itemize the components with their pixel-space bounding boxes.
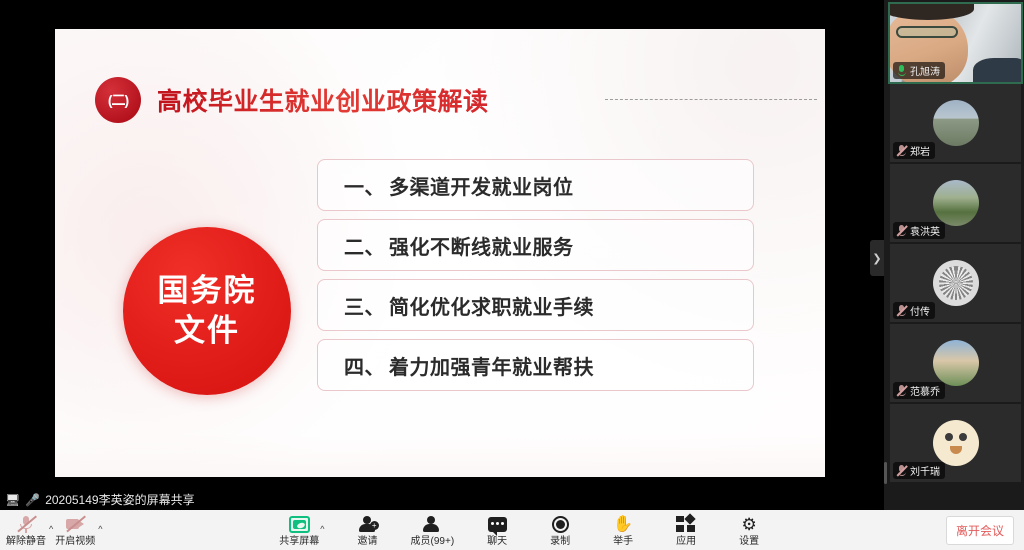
mic-muted-icon xyxy=(896,305,907,316)
members-button[interactable]: 成员(99+) xyxy=(411,513,455,547)
apps-icon xyxy=(676,515,696,534)
avatar xyxy=(933,340,979,386)
mic-muted-icon xyxy=(16,515,36,534)
avatar xyxy=(933,260,979,306)
record-icon xyxy=(552,515,569,534)
toolbar-center-group: 共享屏幕 ^ + 邀请 成员(99+) 聊天 xyxy=(102,513,946,547)
participant-nametag: 孔旭涛 xyxy=(893,62,945,79)
section-number-badge: (二) xyxy=(95,77,141,123)
participant-strip-scrollbar[interactable] xyxy=(884,462,887,484)
participant-nametag: 付传 xyxy=(893,302,935,319)
bullet-text: 着力加强青年就业帮扶 xyxy=(389,351,594,380)
raise-hand-button[interactable]: ✋ 举手 xyxy=(603,513,643,547)
participant-tile[interactable]: 付传 xyxy=(890,244,1021,322)
bullet-item: 二、 强化不断线就业服务 xyxy=(317,219,754,271)
toolbar-left-group: 解除静音 ^ 开启视频 ^ xyxy=(0,513,102,547)
settings-label: 设置 xyxy=(739,536,759,547)
bullet-item: 三、 简化优化求职就业手续 xyxy=(317,279,754,331)
share-options-caret-icon[interactable]: ^ xyxy=(319,524,324,547)
participant-nametag: 刘千瑞 xyxy=(893,462,945,479)
settings-button[interactable]: ⚙ 设置 xyxy=(729,513,769,547)
circle-line-2: 文件 xyxy=(174,311,240,351)
record-label: 录制 xyxy=(550,536,570,547)
camera-muted-icon xyxy=(65,515,85,534)
apps-label: 应用 xyxy=(676,536,696,547)
invite-button[interactable]: + 邀请 xyxy=(348,513,388,547)
avatar xyxy=(933,180,979,226)
start-video-label: 开启视频 xyxy=(55,536,95,547)
participant-tile[interactable]: 袁洪英 xyxy=(890,164,1021,242)
bullet-item: 四、 着力加强青年就业帮扶 xyxy=(317,339,754,391)
mic-muted-icon xyxy=(896,385,907,396)
participant-tile[interactable]: 郑岩 xyxy=(890,84,1021,162)
presentation-slide: (二) 高校毕业生就业创业政策解读 国务院 文件 一、 多渠道开发就业岗位 二、… xyxy=(55,29,825,477)
apps-button[interactable]: 应用 xyxy=(666,513,706,547)
mic-muted-icon: 🎤 xyxy=(25,494,40,506)
share-screen-icon xyxy=(289,515,310,534)
members-label: 成员(99+) xyxy=(411,536,455,547)
share-notice-bar: 🖥 🎤 20205149李英姿的屏幕共享 xyxy=(0,489,884,510)
members-icon xyxy=(422,515,442,534)
slide-heading: (二) 高校毕业生就业创业政策解读 xyxy=(95,77,489,123)
mic-muted-icon xyxy=(896,145,907,156)
participant-nametag: 范慕乔 xyxy=(893,382,945,399)
avatar xyxy=(933,420,979,466)
start-video-button[interactable]: 开启视频 xyxy=(55,513,95,547)
meeting-window: (二) 高校毕业生就业创业政策解读 国务院 文件 一、 多渠道开发就业岗位 二、… xyxy=(0,0,1024,550)
participant-tile[interactable]: 孔旭涛 xyxy=(890,4,1021,82)
participant-name: 刘千瑞 xyxy=(910,463,940,478)
collapse-panel-button[interactable]: ❯ xyxy=(870,240,884,276)
circle-line-1: 国务院 xyxy=(158,271,257,311)
participant-tile[interactable]: 范慕乔 xyxy=(890,324,1021,402)
bullet-number: 四、 xyxy=(344,351,385,380)
leave-meeting-button[interactable]: 离开会议 xyxy=(946,516,1014,545)
share-notice-text: 20205149李英姿的屏幕共享 xyxy=(45,491,194,508)
state-council-document-circle: 国务院 文件 xyxy=(123,227,291,395)
chevron-right-icon: ❯ xyxy=(872,252,881,265)
chat-button[interactable]: 聊天 xyxy=(477,513,517,547)
record-button[interactable]: 录制 xyxy=(540,513,580,547)
bullet-text: 简化优化求职就业手续 xyxy=(389,291,594,320)
gear-icon: ⚙ xyxy=(742,515,757,534)
invite-label: 邀请 xyxy=(358,536,378,547)
toolbar-right-group: 离开会议 xyxy=(946,516,1024,545)
mic-muted-icon xyxy=(896,465,907,476)
participant-name: 付传 xyxy=(910,303,930,318)
share-screen-button[interactable]: 共享屏幕 xyxy=(279,513,319,547)
avatar xyxy=(933,100,979,146)
participant-nametag: 郑岩 xyxy=(893,142,935,159)
audio-options-caret-icon[interactable]: ^ xyxy=(48,524,53,547)
raise-hand-label: 举手 xyxy=(613,536,633,547)
participant-name: 孔旭涛 xyxy=(910,63,940,78)
meeting-toolbar: 解除静音 ^ 开启视频 ^ 共享屏幕 ^ xyxy=(0,510,1024,550)
participant-name: 范慕乔 xyxy=(910,383,940,398)
chat-icon xyxy=(488,515,507,534)
unmute-label: 解除静音 xyxy=(6,536,46,547)
bullet-number: 三、 xyxy=(344,291,385,320)
participant-name: 郑岩 xyxy=(910,143,930,158)
bullet-number: 一、 xyxy=(344,171,385,200)
participant-nametag: 袁洪英 xyxy=(893,222,945,239)
participant-strip[interactable]: 孔旭涛 郑岩 袁洪英 付传 xyxy=(884,0,1024,489)
unmute-button[interactable]: 解除静音 xyxy=(6,513,46,547)
mic-muted-icon xyxy=(896,225,907,236)
share-screen-label: 共享屏幕 xyxy=(279,536,319,547)
invite-user-icon: + xyxy=(358,515,378,534)
raise-hand-icon: ✋ xyxy=(613,515,633,534)
chat-label: 聊天 xyxy=(487,536,507,547)
bullet-number: 二、 xyxy=(344,231,385,260)
bullet-text: 强化不断线就业服务 xyxy=(389,231,574,260)
heading-dashed-rule xyxy=(605,99,817,100)
slide-title: 高校毕业生就业创业政策解读 xyxy=(157,82,489,118)
bullet-item: 一、 多渠道开发就业岗位 xyxy=(317,159,754,211)
participant-name: 袁洪英 xyxy=(910,223,940,238)
monitor-icon: 🖥 xyxy=(5,494,20,506)
mic-on-icon xyxy=(896,65,907,76)
bullet-text: 多渠道开发就业岗位 xyxy=(389,171,574,200)
bullet-list: 一、 多渠道开发就业岗位 二、 强化不断线就业服务 三、 简化优化求职就业手续 … xyxy=(317,159,754,399)
shared-screen-stage[interactable]: (二) 高校毕业生就业创业政策解读 国务院 文件 一、 多渠道开发就业岗位 二、… xyxy=(0,0,884,489)
participant-tile[interactable]: 刘千瑞 xyxy=(890,404,1021,482)
